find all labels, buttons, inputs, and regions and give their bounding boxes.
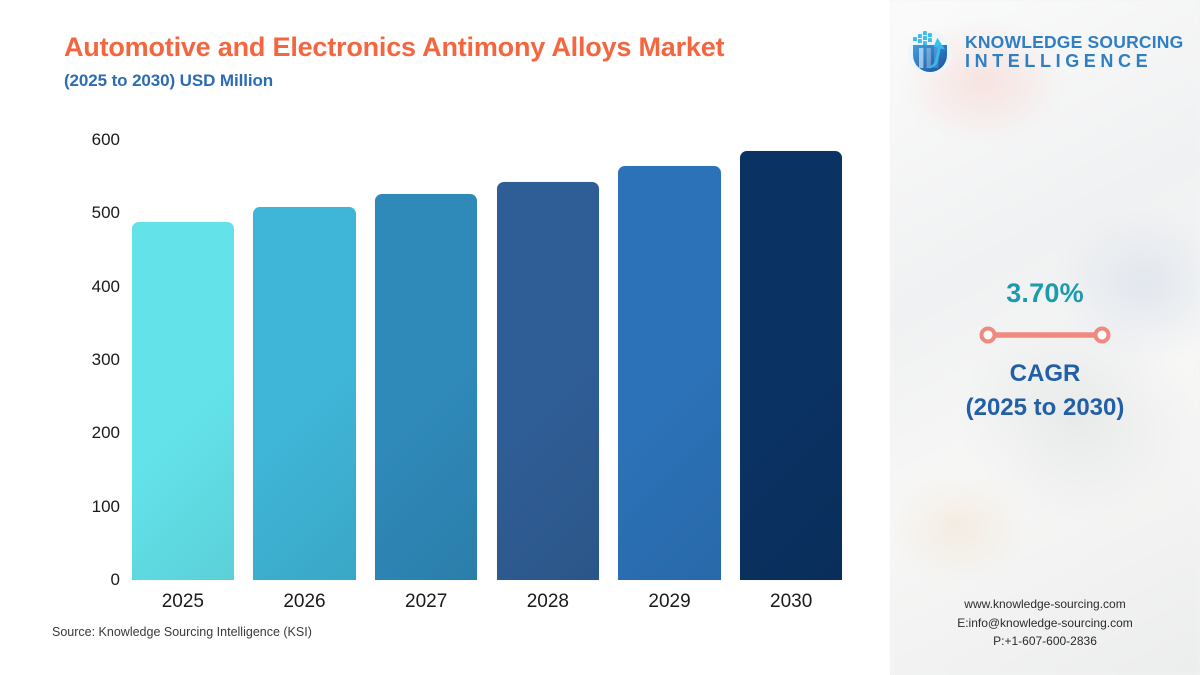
x-axis-label: 2029 (609, 580, 731, 613)
brand-line-2: INTELLIGENCE (965, 51, 1152, 71)
contact-phone[interactable]: P:+1-607-600-2836 (890, 632, 1200, 651)
x-axis-label: 2025 (122, 580, 244, 613)
side-panel: KNOWLEDGE SOURCING INTELLIGENCE 3.70% CA… (890, 0, 1200, 675)
bar-2027[interactable] (375, 194, 477, 580)
contact-block: www.knowledge-sourcing.com E:info@knowle… (890, 595, 1200, 651)
knowledge-sourcing-logo-icon (904, 26, 956, 78)
y-axis: 6005004003002001000 (64, 140, 120, 580)
bar-column (487, 140, 609, 580)
bar-column (122, 140, 244, 580)
cagr-block: 3.70% CAGR (2025 to 2030) (890, 278, 1200, 422)
x-axis-label: 2026 (244, 580, 366, 613)
chart-panel: Automotive and Electronics Antimony Allo… (0, 0, 890, 675)
brand-line-1: KNOWLEDGE SOURCING (965, 32, 1183, 52)
bar-2025[interactable] (132, 222, 234, 580)
y-axis-tick: 200 (92, 423, 120, 443)
plot-area: 6005004003002001000 20252026202720282029… (64, 140, 854, 580)
bar-2028[interactable] (497, 182, 599, 580)
x-axis-label: 2027 (365, 580, 487, 613)
y-axis-tick: 100 (92, 497, 120, 517)
cagr-value: 3.70% (890, 278, 1200, 309)
bar-column (244, 140, 366, 580)
bar-column (609, 140, 731, 580)
contact-website[interactable]: www.knowledge-sourcing.com (890, 595, 1200, 614)
x-axis-label: 2028 (487, 580, 609, 613)
chart-subtitle: (2025 to 2030) USD Million (64, 71, 724, 91)
x-axis-label: 2030 (730, 580, 852, 613)
y-axis-tick: 400 (92, 277, 120, 297)
title-block: Automotive and Electronics Antimony Allo… (64, 32, 724, 91)
source-note: Source: Knowledge Sourcing Intelligence … (52, 625, 312, 639)
y-axis-tick: 300 (92, 350, 120, 370)
y-axis-tick: 500 (92, 203, 120, 223)
infographic-canvas: Automotive and Electronics Antimony Allo… (0, 0, 1200, 675)
bars-area (120, 140, 854, 580)
bar-2026[interactable] (253, 207, 355, 580)
y-axis-tick: 600 (92, 130, 120, 150)
cagr-label: CAGR (890, 360, 1200, 388)
bar-column (730, 140, 852, 580)
dumbbell-connector-icon (974, 325, 1116, 345)
bar-2029[interactable] (618, 166, 720, 580)
bar-2030[interactable] (740, 151, 842, 580)
contact-email[interactable]: E:info@knowledge-sourcing.com (890, 614, 1200, 633)
y-axis-tick: 0 (111, 570, 120, 590)
bar-column (365, 140, 487, 580)
brand-logo[interactable]: KNOWLEDGE SOURCING INTELLIGENCE (904, 26, 1200, 78)
brand-wordmark: KNOWLEDGE SOURCING INTELLIGENCE (965, 34, 1200, 71)
x-axis: 202520262027202820292030 (120, 580, 854, 613)
cagr-period: (2025 to 2030) (890, 394, 1200, 422)
chart-title: Automotive and Electronics Antimony Allo… (64, 32, 724, 63)
